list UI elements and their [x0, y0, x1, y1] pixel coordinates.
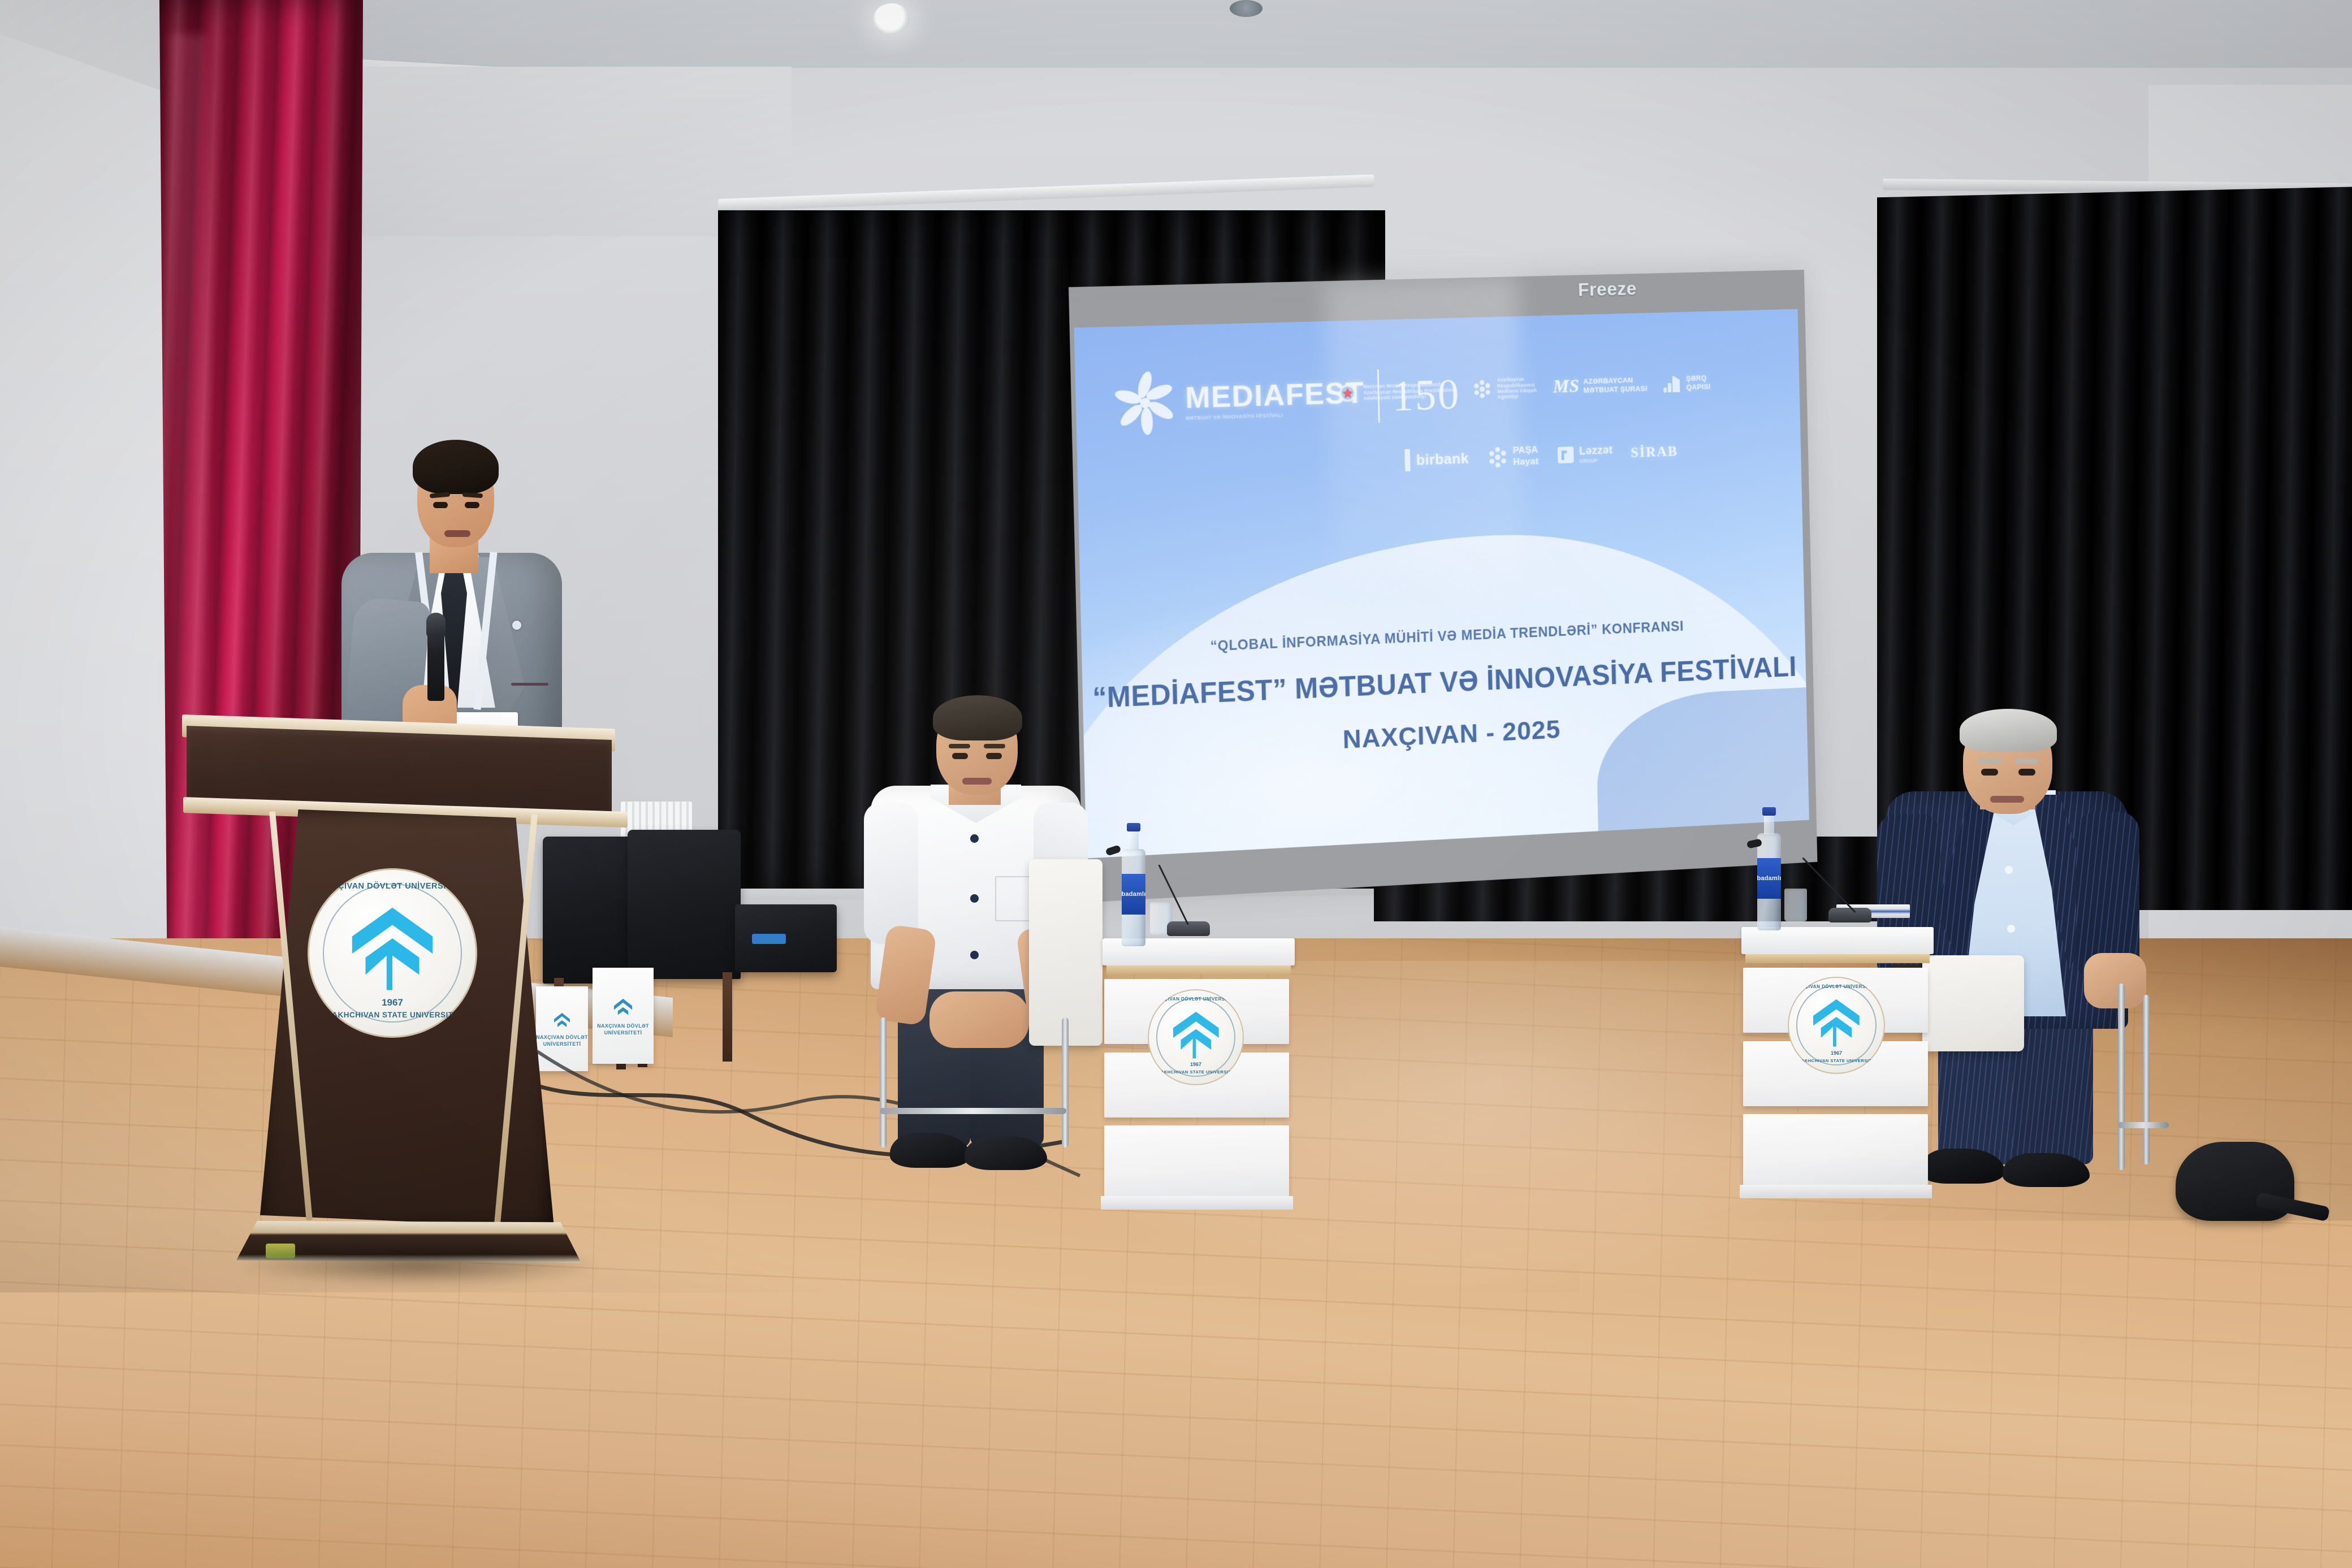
chair-center-crossbar	[880, 1108, 1066, 1114]
sponsor-logo-lazzat-group: Ləzzət GROUP	[1557, 444, 1613, 465]
drinking-glass-right	[1784, 889, 1807, 921]
blue-object-on-chair	[752, 934, 786, 944]
emblem-top-text: NAXÇIVAN DÖVLƏT UNİVERSİTETİ	[308, 882, 477, 891]
sponsor-line-1: ŞƏRQ	[1686, 374, 1710, 383]
center-panelist-button	[970, 834, 979, 843]
sponsor-text-birbank: birbank	[1416, 449, 1469, 468]
sponsor-line-2: Hayat	[1513, 456, 1539, 468]
bottle-cap	[1127, 823, 1140, 831]
speaker-hair	[413, 440, 499, 494]
emblem-top-text: NAXÇIVAN DÖVLƏT UNİVERSİTETİ	[1788, 984, 1885, 989]
microphone-grille	[426, 613, 446, 638]
university-emblem-table-center: NAXÇIVAN DÖVLƏT UNİVERSİTETİ 1967 NAKHCH…	[1148, 989, 1244, 1085]
center-panelist-button	[970, 951, 979, 959]
emblem-year: 1967	[308, 997, 477, 1008]
table-top-right	[1741, 927, 1934, 954]
sponsor-logo-birbank: birbank	[1403, 446, 1469, 473]
pasha-flower-icon	[1487, 445, 1509, 469]
emblem-bottom-text: NAKHCHIVAN STATE UNIVERSITY	[1788, 1058, 1885, 1063]
pinwheel-leaf-icon	[1112, 370, 1178, 437]
ndu-mark-icon	[343, 904, 442, 992]
sponsor-logo-pasha-hayat: PAŞA Hayat	[1487, 444, 1539, 469]
ms-monogram-icon: MS	[1553, 376, 1579, 397]
right-panelist-eyebrow-right	[2015, 759, 2039, 764]
projection-screen: Freeze	[1069, 270, 1817, 903]
bottle-label-right: badamlı	[1757, 858, 1781, 899]
sponsor-logo-presidential-rep: Naxçıvan Muxtar Respublikasında Azərbayc…	[1336, 378, 1456, 405]
university-emblem-podium: NAXÇIVAN DÖVLƏT UNİVERSİTETİ 1967 NAKHCH…	[308, 868, 477, 1038]
emblem-bottom-text: NAKHCHIVAN STATE UNIVERSITY	[308, 1011, 477, 1019]
sponsor-text-press-council: AZƏRBAYCAN MƏTBUAT ŞURASI	[1583, 375, 1648, 395]
bottle-cap	[1762, 807, 1776, 816]
bottle-brand-text: badamlı	[1122, 891, 1146, 898]
emblem-bottom-text: NAKHCHIVAN STATE UNIVERSITY	[1148, 1069, 1244, 1075]
chair-right-frame-b	[2143, 995, 2150, 1164]
speaker-mouth	[444, 530, 470, 537]
water-bottle-right: badamlı	[1757, 833, 1781, 930]
sponsor-text-lazzat-group: Ləzzət GROUP	[1579, 444, 1613, 464]
presentation-slide: MEDIAFEST MƏTBUAT VƏ İNNOVASİYA FESTİVAL…	[1074, 309, 1809, 859]
sponsor-text-sirab: SİRAB	[1631, 443, 1678, 461]
emblem-top-text: NAXÇIVAN DÖVLƏT UNİVERSİTETİ	[1148, 997, 1244, 1002]
bottle-label-center: badamlı	[1122, 874, 1145, 915]
speaker-eye-left	[433, 502, 448, 508]
state-emblem-icon	[1336, 381, 1360, 405]
podium-floor-shadow	[237, 1252, 599, 1286]
center-panelist-eyebrow-right	[984, 744, 1005, 748]
sponsor-line-2: GROUP	[1579, 457, 1612, 465]
chair-right-crossbar	[2118, 1122, 2169, 1128]
table-wood-trim-right	[1745, 954, 1930, 963]
lazzat-logo-icon	[1557, 445, 1575, 465]
table-panel-3-right	[1743, 1114, 1927, 1185]
panel-table-right: NAXÇIVAN DÖVLƏT UNİVERSİTETİ 1967 NAKHCH…	[1741, 927, 1934, 1198]
right-panelist-eyebrow-left	[1978, 759, 2001, 764]
birbank-logo-icon	[1403, 448, 1412, 473]
center-panelist-sleeve-left	[864, 803, 918, 944]
table-skirt-right	[1740, 1185, 1932, 1198]
right-panelist-button	[2005, 866, 2013, 874]
sponsor-text-serq-qapisi: ŞƏRQ QAPISI	[1686, 374, 1710, 392]
chair-right-panelist	[1922, 955, 2024, 1051]
sponsor-line-4: Agentliyi	[1498, 393, 1537, 400]
emblem-year: 1967	[1788, 1050, 1885, 1056]
chair-right-frame-a	[2118, 984, 2125, 1170]
conference-hall-photo: Freeze	[0, 0, 2352, 1568]
center-panelist-eye-left	[952, 753, 968, 759]
ceiling-downlight-1	[874, 3, 910, 34]
bottle-brand-text: badamlı	[1757, 875, 1782, 882]
right-panelist-mouth	[1990, 796, 2024, 803]
emblem-year: 1967	[1148, 1062, 1244, 1067]
speaker-eye-right	[465, 502, 479, 508]
ceiling-downlight-2	[1230, 0, 1263, 17]
table-wood-trim-center	[1106, 965, 1291, 974]
table-panel-3-center	[1104, 1125, 1289, 1196]
table-skirt-center	[1101, 1196, 1293, 1210]
center-panelist-mouth	[962, 778, 992, 785]
sponsor-line-1: Ləzzət	[1579, 444, 1613, 458]
ndu-mark-icon	[1808, 997, 1865, 1047]
university-emblem-table-right: NAXÇIVAN DÖVLƏT UNİVERSİTETİ 1967 NAKHCH…	[1788, 977, 1885, 1074]
bars-logo-icon	[1663, 374, 1682, 393]
right-panelist-button	[2007, 925, 2015, 933]
slide-headline: “MEDİAFEST” MƏTBUAT VƏ İNNOVASİYA FESTİV…	[1082, 652, 1806, 713]
projector-freeze-osd: Freeze	[1578, 278, 1637, 301]
center-panelist-button	[970, 894, 979, 903]
gooseneck-mic-base-right	[1828, 908, 1871, 922]
center-panelist-hands	[929, 991, 1029, 1048]
chair-behind-podium-3	[735, 904, 837, 972]
chair-behind-podium-2	[628, 830, 741, 979]
sponsor-text-media-agency: Azərbaycan Respublikasının Medianın İnki…	[1497, 376, 1537, 400]
bottle-neck	[1764, 814, 1774, 834]
sponsor-line-1: PAŞA	[1513, 444, 1539, 457]
lectern-podium: NAXÇIVAN DÖVLƏT UNİVERSİTETİ 1967 NAKHCH…	[170, 701, 628, 1306]
chair-center-frame-right	[1062, 1017, 1069, 1147]
sponsor-logo-serq-qapisi: ŞƏRQ QAPISI	[1663, 373, 1710, 393]
panel-table-center: NAXÇIVAN DÖVLƏT UNİVERSİTETİ 1967 NAKHCH…	[1102, 938, 1295, 1210]
ndu-mark-icon	[1168, 1010, 1224, 1059]
right-panelist-hand-right	[2084, 953, 2146, 1008]
sponsor-line-2: MƏTBUAT ŞURASI	[1584, 384, 1648, 395]
center-panelist-eye-right	[986, 753, 1002, 759]
sponsor-logo-press-council: MS AZƏRBAYCAN MƏTBUAT ŞURASI	[1553, 374, 1648, 397]
sponsor-text-pasha-hayat: PAŞA Hayat	[1513, 444, 1539, 468]
right-panelist-hair	[1960, 709, 2057, 752]
water-bottle-center: badamlı	[1122, 849, 1145, 946]
center-panelist-eyebrow-left	[949, 744, 970, 748]
speaker-jacket-pocket	[511, 683, 548, 686]
center-panelist-hair	[933, 695, 1022, 740]
sponsor-logo-sirab: SİRAB	[1631, 443, 1678, 461]
right-panelist-eye-right	[2018, 769, 2035, 776]
right-panelist-eye-left	[1981, 769, 1998, 776]
bottle-neck	[1129, 830, 1139, 850]
sponsor-text-presidential-rep: Naxçıvan Muxtar Respublikasında Azərbayc…	[1363, 382, 1455, 401]
chair-center-frame-left	[880, 1017, 887, 1147]
sponsor-line-2: QAPISI	[1687, 382, 1711, 392]
sponsor-logo-media-agency: Azərbaycan Respublikasının Medianın İnki…	[1471, 376, 1537, 401]
flower-logo-icon	[1471, 378, 1493, 400]
sponsor-row-bottom: birbank PAŞA Hayat	[1403, 426, 1766, 484]
speaker-lapel-pin	[512, 621, 521, 630]
